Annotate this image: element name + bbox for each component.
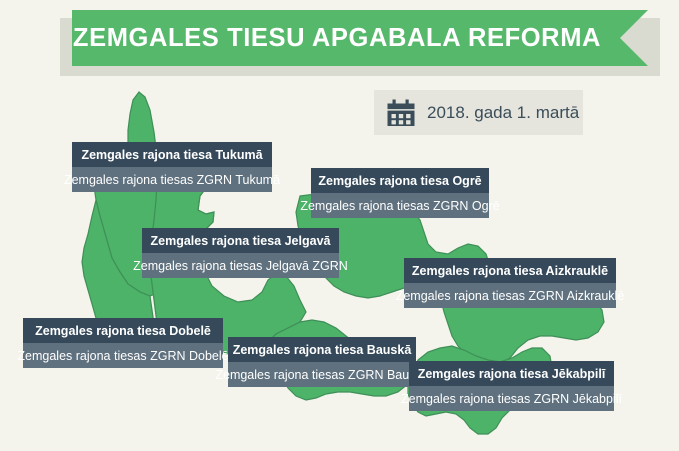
- registry-name-jekabpils: Zemgales rajona tiesas ZGRN Jēkabpilī: [409, 386, 614, 411]
- ribbon-banner: [72, 10, 648, 66]
- registry-name-dobele: Zemgales rajona tiesas ZGRN Dobelē: [23, 343, 223, 368]
- registry-name-bauska: Zemgales rajona tiesas ZGRN Bauskā: [228, 362, 416, 387]
- court-name-jekabpils: Zemgales rajona tiesa Jēkabpilī: [409, 361, 614, 386]
- court-label-aizkraukle[interactable]: Zemgales rajona tiesa Aizkrauklē Zemgale…: [404, 258, 616, 308]
- court-name-bauska: Zemgales rajona tiesa Bauskā: [228, 337, 416, 362]
- court-name-dobele: Zemgales rajona tiesa Dobelē: [23, 318, 223, 343]
- court-name-ogre: Zemgales rajona tiesa Ogrē: [311, 168, 489, 193]
- court-label-jekabpils[interactable]: Zemgales rajona tiesa Jēkabpilī Zemgales…: [409, 361, 614, 411]
- registry-name-jelgava: Zemgales rajona tiesas Jelgavā ZGRN: [142, 253, 339, 278]
- court-name-aizkraukle: Zemgales rajona tiesa Aizkrauklē: [404, 258, 616, 283]
- court-label-bauska[interactable]: Zemgales rajona tiesa Bauskā Zemgales ra…: [228, 337, 416, 387]
- court-name-jelgava: Zemgales rajona tiesa Jelgavā: [142, 228, 339, 253]
- date-badge: 2018. gada 1. martā: [374, 90, 583, 135]
- court-label-jelgava[interactable]: Zemgales rajona tiesa Jelgavā Zemgales r…: [142, 228, 339, 278]
- court-label-dobele[interactable]: Zemgales rajona tiesa Dobelē Zemgales ra…: [23, 318, 223, 368]
- infographic-root: ZEMGALES TIESU APGABALA REFORMA 2018. ga…: [0, 0, 679, 451]
- calendar-icon: [386, 98, 416, 128]
- registry-name-tukums: Zemgales rajona tiesas ZGRN Tukumā: [72, 167, 272, 192]
- header-ribbon: ZEMGALES TIESU APGABALA REFORMA: [60, 10, 660, 72]
- court-name-tukums: Zemgales rajona tiesa Tukumā: [72, 142, 272, 167]
- court-label-tukums[interactable]: Zemgales rajona tiesa Tukumā Zemgales ra…: [72, 142, 272, 192]
- court-label-ogre[interactable]: Zemgales rajona tiesa Ogrē Zemgales rajo…: [311, 168, 489, 218]
- registry-name-ogre: Zemgales rajona tiesas ZGRN Ogrē: [311, 193, 489, 218]
- registry-name-aizkraukle: Zemgales rajona tiesas ZGRN Aizkrauklē: [404, 283, 616, 308]
- date-text: 2018. gada 1. martā: [427, 103, 579, 123]
